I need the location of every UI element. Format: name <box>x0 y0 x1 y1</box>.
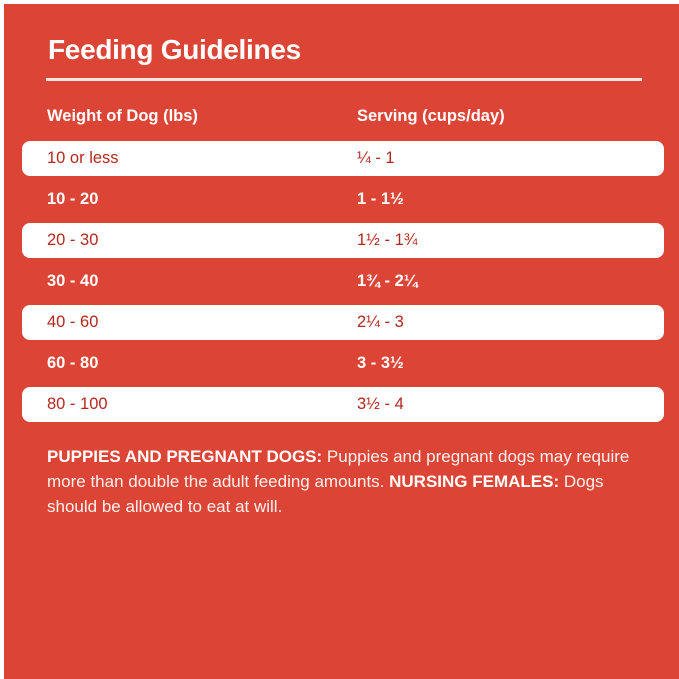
cell-serving: 3 - 3½ <box>357 346 404 381</box>
page-title: Feeding Guidelines <box>48 34 301 66</box>
cell-serving: 1¾ - 2¼ <box>357 264 418 299</box>
cell-weight: 40 - 60 <box>47 305 98 340</box>
cell-weight: 30 - 40 <box>47 264 98 299</box>
cell-serving: 2¼ - 3 <box>357 305 404 340</box>
table-row-background <box>22 387 664 422</box>
table-row-background <box>22 264 664 299</box>
table-row-background <box>22 346 664 381</box>
table-row: 60 - 803 - 3½ <box>4 346 679 381</box>
feeding-table: 10 or less¼ - 110 - 201 - 1½20 - 301½ - … <box>4 141 679 428</box>
table-row: 10 - 201 - 1½ <box>4 182 679 217</box>
feeding-guidelines-panel: Feeding Guidelines Weight of Dog (lbs) S… <box>4 4 679 679</box>
cell-serving: 1½ - 1¾ <box>357 223 418 258</box>
table-row-background <box>22 182 664 217</box>
table-row: 30 - 401¾ - 2¼ <box>4 264 679 299</box>
table-row: 10 or less¼ - 1 <box>4 141 679 176</box>
column-header-weight: Weight of Dog (lbs) <box>47 107 198 126</box>
cell-weight: 80 - 100 <box>47 387 108 422</box>
title-divider <box>46 78 642 81</box>
note-label-puppies: PUPPIES AND PREGNANT DOGS: <box>47 447 322 466</box>
cell-serving: 3½ - 4 <box>357 387 404 422</box>
cell-serving: 1 - 1½ <box>357 182 404 217</box>
column-header-serving: Serving (cups/day) <box>357 107 505 126</box>
feeding-note: PUPPIES AND PREGNANT DOGS: Puppies and p… <box>47 444 647 519</box>
table-row: 20 - 301½ - 1¾ <box>4 223 679 258</box>
cell-weight: 10 - 20 <box>47 182 98 217</box>
cell-weight: 10 or less <box>47 141 119 176</box>
table-row-background <box>22 223 664 258</box>
cell-serving: ¼ - 1 <box>357 141 395 176</box>
table-row-background <box>22 305 664 340</box>
cell-weight: 20 - 30 <box>47 223 98 258</box>
note-label-nursing: NURSING FEMALES: <box>389 472 559 491</box>
table-row: 80 - 1003½ - 4 <box>4 387 679 422</box>
table-row: 40 - 602¼ - 3 <box>4 305 679 340</box>
cell-weight: 60 - 80 <box>47 346 98 381</box>
